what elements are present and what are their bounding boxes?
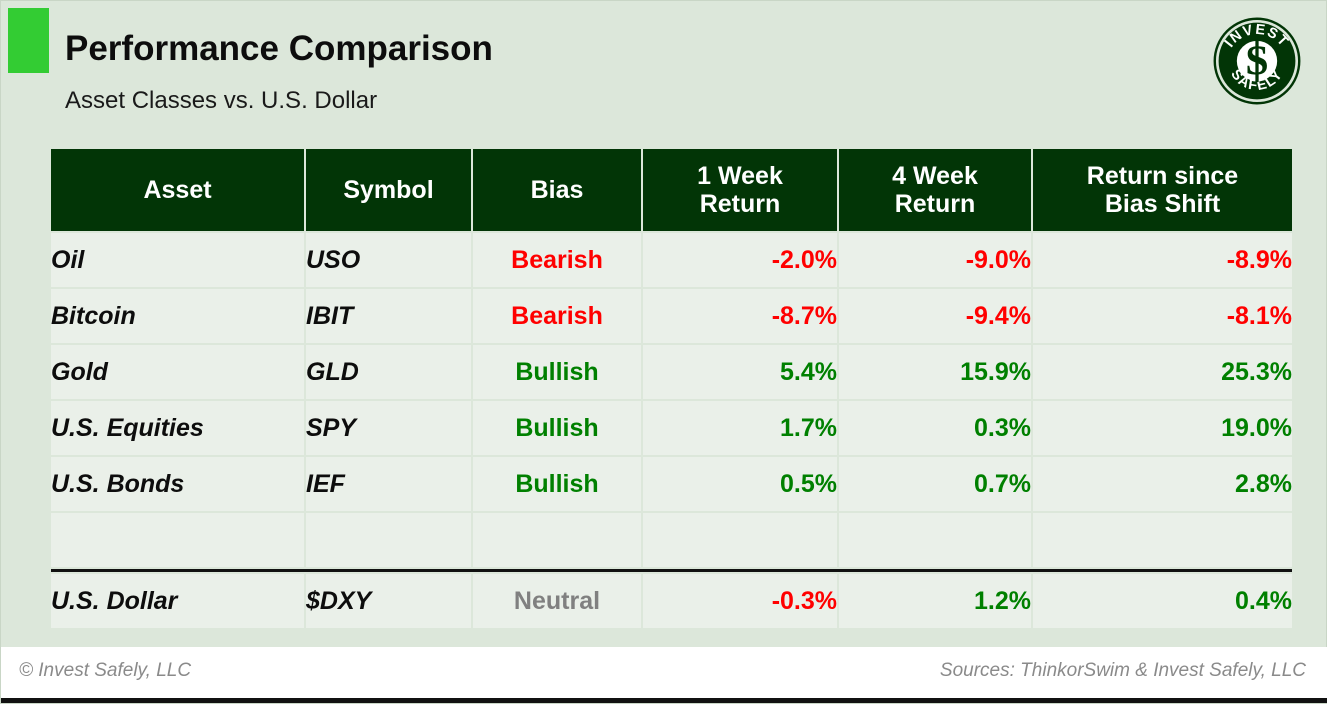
cell-symbol: IEF [306, 457, 471, 511]
cell-return-since-bias-shift: 2.8% [1033, 457, 1292, 511]
cell-1-week-return: -2.0% [643, 233, 837, 287]
table-body: Oil USO Bearish -2.0% -9.0% -8.9% Bitcoi… [51, 233, 1292, 628]
column-header-1-week-return: 1 Week Return [643, 149, 837, 231]
cell-symbol: GLD [306, 345, 471, 399]
cell-4-week-return [839, 513, 1031, 567]
cell-symbol: $DXY [306, 574, 471, 628]
invest-safely-logo: INVEST SAFELY S [1209, 13, 1305, 109]
table-header-row: Asset Symbol Bias 1 Week Return 4 Week R… [51, 149, 1292, 231]
cell-4-week-return: 0.3% [839, 401, 1031, 455]
page-subtitle: Asset Classes vs. U.S. Dollar [65, 87, 377, 115]
divider-cell [51, 569, 1292, 572]
performance-table-container: Asset Symbol Bias 1 Week Return 4 Week R… [49, 147, 1280, 630]
table-header: Asset Symbol Bias 1 Week Return 4 Week R… [51, 149, 1292, 231]
table-row: Gold GLD Bullish 5.4% 15.9% 25.3% [51, 345, 1292, 399]
column-header-symbol: Symbol [306, 149, 471, 231]
cell-asset: U.S. Equities [51, 401, 304, 455]
cell-asset: Gold [51, 345, 304, 399]
cell-return-since-bias-shift: 25.3% [1033, 345, 1292, 399]
cell-symbol: USO [306, 233, 471, 287]
cell-1-week-return: -8.7% [643, 289, 837, 343]
header-line-1: 4 Week [839, 162, 1031, 190]
cell-bias: Bearish [473, 289, 641, 343]
column-header-4-week-return: 4 Week Return [839, 149, 1031, 231]
cell-1-week-return: 5.4% [643, 345, 837, 399]
table-spacer-row [51, 513, 1292, 567]
cell-asset: Oil [51, 233, 304, 287]
column-header-return-since-bias-shift: Return since Bias Shift [1033, 149, 1292, 231]
page-title: Performance Comparison [65, 29, 493, 69]
cell-4-week-return: 0.7% [839, 457, 1031, 511]
table-row: U.S. Bonds IEF Bullish 0.5% 0.7% 2.8% [51, 457, 1292, 511]
header-line-2: Return [839, 190, 1031, 218]
cell-return-since-bias-shift: 19.0% [1033, 401, 1292, 455]
cell-4-week-return: 1.2% [839, 574, 1031, 628]
cell-asset: Bitcoin [51, 289, 304, 343]
table-divider-rule [51, 569, 1292, 572]
horizontal-rule [51, 569, 1292, 572]
cell-symbol: SPY [306, 401, 471, 455]
table-row: Bitcoin IBIT Bearish -8.7% -9.4% -8.1% [51, 289, 1292, 343]
cell-return-since-bias-shift: 0.4% [1033, 574, 1292, 628]
performance-table: Asset Symbol Bias 1 Week Return 4 Week R… [49, 147, 1294, 630]
cell-1-week-return: 0.5% [643, 457, 837, 511]
cell-1-week-return [643, 513, 837, 567]
footer-copyright: © Invest Safely, LLC [19, 660, 191, 682]
cell-bias: Bullish [473, 345, 641, 399]
header-line-2: Bias Shift [1033, 190, 1292, 218]
cell-bias: Neutral [473, 574, 641, 628]
cell-bias: Bearish [473, 233, 641, 287]
header-line-1: Return since [1033, 162, 1292, 190]
cell-symbol: IBIT [306, 289, 471, 343]
table-row: U.S. Equities SPY Bullish 1.7% 0.3% 19.0… [51, 401, 1292, 455]
footer-bar: © Invest Safely, LLC Sources: ThinkorSwi… [1, 647, 1327, 703]
cell-asset [51, 513, 304, 567]
table-summary-row: U.S. Dollar $DXY Neutral -0.3% 1.2% 0.4% [51, 574, 1292, 628]
header-line-2: Return [643, 190, 837, 218]
cell-bias: Bullish [473, 401, 641, 455]
cell-symbol [306, 513, 471, 567]
svg-text:S: S [1245, 37, 1269, 84]
cell-return-since-bias-shift [1033, 513, 1292, 567]
cell-bias [473, 513, 641, 567]
column-header-bias: Bias [473, 149, 641, 231]
cell-return-since-bias-shift: -8.9% [1033, 233, 1292, 287]
cell-1-week-return: -0.3% [643, 574, 837, 628]
column-header-asset: Asset [51, 149, 304, 231]
cell-1-week-return: 1.7% [643, 401, 837, 455]
cell-4-week-return: -9.4% [839, 289, 1031, 343]
cell-asset: U.S. Bonds [51, 457, 304, 511]
cell-4-week-return: 15.9% [839, 345, 1031, 399]
cell-asset: U.S. Dollar [51, 574, 304, 628]
accent-bar [8, 8, 49, 73]
cell-bias: Bullish [473, 457, 641, 511]
cell-4-week-return: -9.0% [839, 233, 1031, 287]
table-row: Oil USO Bearish -2.0% -9.0% -8.9% [51, 233, 1292, 287]
slide-canvas: Performance Comparison Asset Classes vs.… [0, 0, 1327, 704]
dollar-monogram-icon: S [1245, 37, 1269, 84]
header-line-1: 1 Week [643, 162, 837, 190]
footer-sources: Sources: ThinkorSwim & Invest Safely, LL… [940, 660, 1306, 682]
cell-return-since-bias-shift: -8.1% [1033, 289, 1292, 343]
